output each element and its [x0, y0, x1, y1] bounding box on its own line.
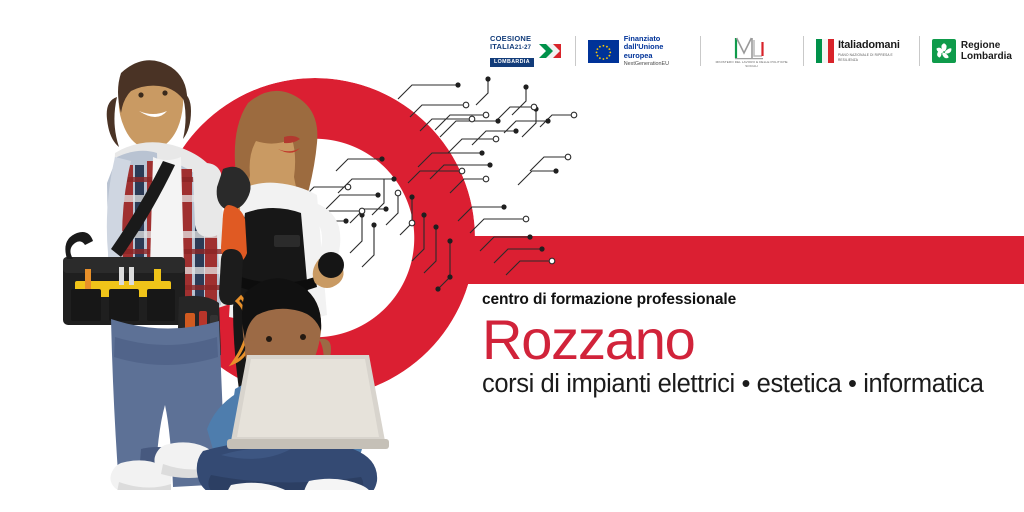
- italia-domani-subtitle: PIANO NAZIONALE DI RIPRESA E RESILIENZA: [838, 53, 907, 61]
- logo-ministero-lavoro: MINISTERO DEL LAVORO E DELLE POLITICHE S…: [701, 28, 803, 74]
- logo-italia-domani: Italiadomani PIANO NAZIONALE DI RIPRESA …: [804, 28, 919, 74]
- logo-regione-lombardia: Regione Lombardia: [920, 28, 1024, 74]
- lombardy-rose-icon: [932, 39, 956, 63]
- coesione-line2: ITALIA: [490, 42, 515, 51]
- courses-text: corsi di impianti elettrici • estetica •…: [482, 370, 1002, 398]
- kicker-text: centro di formazione professionale: [482, 291, 1002, 308]
- regione-line1: Regione: [961, 40, 1012, 51]
- eu-flag-icon: [588, 40, 619, 63]
- italian-flag-icon: [816, 39, 834, 63]
- domani-word: domani: [862, 39, 900, 51]
- coesione-years: 21-27: [515, 45, 531, 51]
- eu-line3: NextGenerationEU: [624, 61, 688, 67]
- funding-logo-strip: COESIONE ITALIA21-27 LOMBARDIA: [478, 28, 1024, 74]
- regione-line2: Lombardia: [961, 51, 1012, 62]
- coesione-arrow-icon: [537, 38, 563, 64]
- coesione-badge: LOMBARDIA: [490, 58, 534, 66]
- ml-monogram-icon: [732, 34, 772, 60]
- logo-coesione-italia: COESIONE ITALIA21-27 LOMBARDIA: [478, 28, 575, 74]
- promotional-banner: COESIONE ITALIA21-27 LOMBARDIA: [0, 0, 1024, 512]
- headline-block: centro di formazione professionale Rozza…: [482, 291, 1002, 398]
- ml-subtitle: MINISTERO DEL LAVORO E DELLE POLITICHE S…: [713, 61, 791, 69]
- students-photo-group: [55, 45, 455, 490]
- logo-finanziato-ue: Finanziato dall'Unione europea NextGener…: [576, 28, 700, 74]
- figure-it-student: [197, 278, 389, 490]
- eu-line2: dall'Unione europea: [624, 43, 688, 60]
- italia-word: Italia: [838, 39, 862, 51]
- city-title: Rozzano: [482, 311, 1002, 368]
